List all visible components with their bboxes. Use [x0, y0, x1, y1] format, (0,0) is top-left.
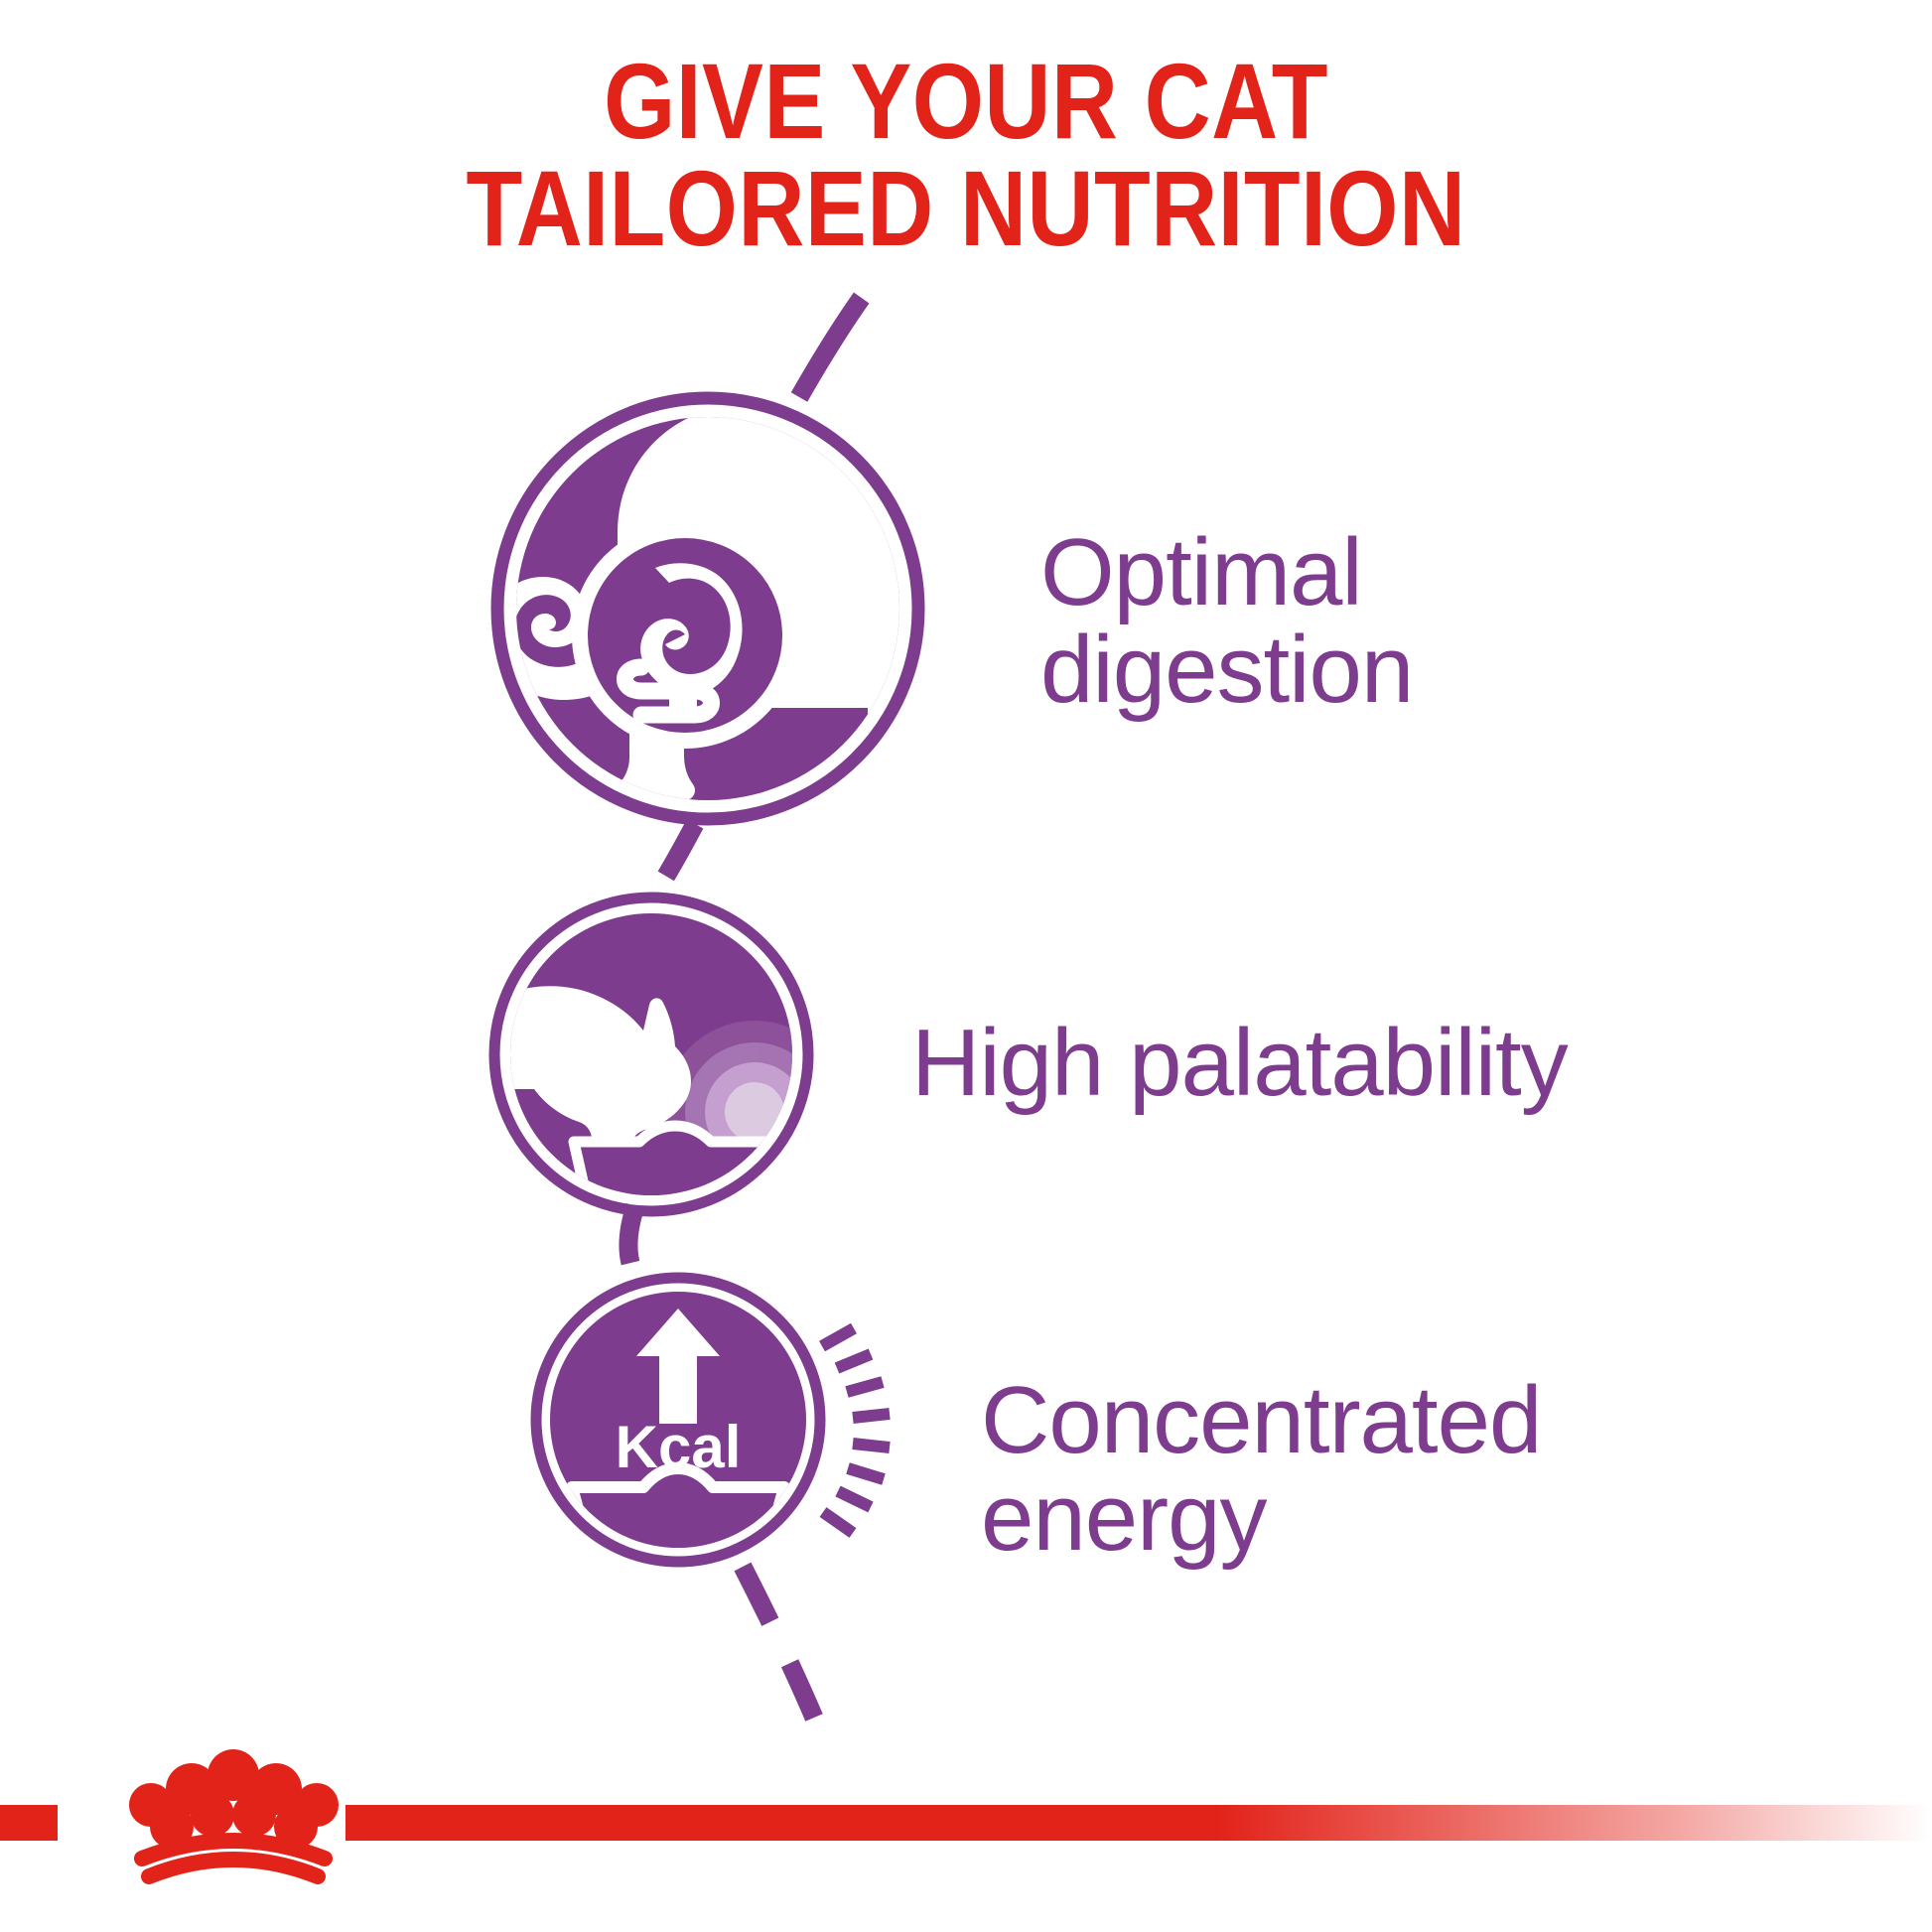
benefit-icon-high-palatability[interactable] — [405, 897, 846, 1218]
benefit-label-high-palatability: High palatability — [911, 1015, 1568, 1112]
energy-bowl-icon — [572, 1468, 784, 1558]
benefit-label-optimal-digestion: Optimal digestion — [1040, 524, 1413, 719]
gauge-ticks-icon — [822, 1328, 890, 1533]
kcal-label: Kcal — [616, 1414, 742, 1480]
footer-bar-left-stub — [0, 1805, 58, 1841]
headline-line-1: GIVE YOUR CAT — [604, 41, 1328, 161]
benefit-label-concentrated-energy: Concentrated energy — [981, 1372, 1541, 1567]
food-bowl-icon — [574, 1126, 776, 1218]
cat-eating-icon — [405, 927, 691, 1163]
page-title: GIVE YOUR CAT TAILORED NUTRITION — [135, 48, 1797, 262]
illustration-layer: Kcal — [0, 0, 1932, 1932]
cat-digestion-icon — [488, 326, 962, 800]
benefit-icon-optimal-digestion[interactable] — [488, 326, 962, 819]
royal-canin-crown-logo — [129, 1749, 339, 1876]
footer-brand-bar — [0, 1727, 1932, 1932]
poster-canvas: GIVE YOUR CAT TAILORED NUTRITION — [0, 0, 1932, 1932]
headline-line-2: TAILORED NUTRITION — [135, 155, 1797, 262]
dashed-connector-line — [628, 281, 874, 1718]
up-arrow-icon — [636, 1309, 720, 1424]
aroma-waves-icon — [663, 1021, 846, 1203]
benefit-icon-concentrated-energy[interactable]: Kcal — [536, 1278, 890, 1562]
footer-bar — [345, 1805, 1932, 1841]
